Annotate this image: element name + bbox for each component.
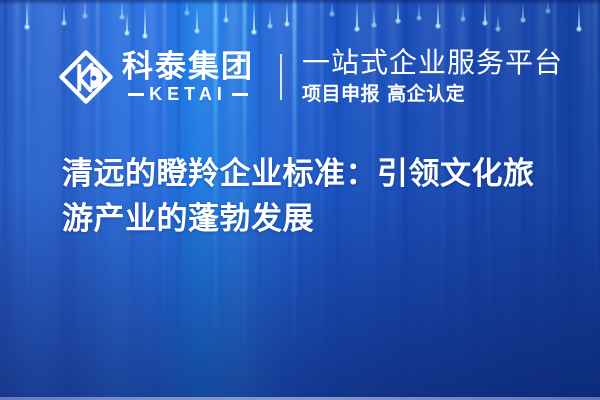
falling-particle <box>269 10 271 27</box>
logo-wordmark: 科泰集团 KETAI <box>122 51 254 104</box>
falling-particle <box>144 4 146 37</box>
light-streak <box>594 0 597 400</box>
falling-particle <box>286 0 288 25</box>
falling-particle <box>253 2 255 33</box>
page-title: 清远的瞪羚企业标准：引领文化旅游产业的蓬勃发展 <box>62 152 562 242</box>
light-streak <box>14 0 20 400</box>
falling-particle <box>63 2 65 24</box>
light-streak <box>583 0 593 400</box>
falling-particle <box>484 0 486 24</box>
falling-particle <box>522 2 524 21</box>
logo-chinese-name: 科泰集团 <box>122 51 254 84</box>
dash-right-icon <box>232 93 248 96</box>
falling-particle <box>397 0 399 22</box>
slogan-block: 一站式企业服务平台 项目申报 高企认定 <box>302 48 563 106</box>
falling-particle <box>547 0 549 12</box>
falling-particle <box>26 0 28 28</box>
slogan-sub: 项目申报 高企认定 <box>302 84 563 106</box>
top-shade <box>0 0 600 5</box>
falling-particle <box>331 2 333 15</box>
falling-particle <box>196 6 198 32</box>
header-divider <box>280 54 282 100</box>
falling-particle <box>462 6 464 20</box>
falling-particle <box>373 8 375 26</box>
slogan-main: 一站式企业服务平台 <box>302 48 563 79</box>
promo-banner: 科泰集团 KETAI 一站式企业服务平台 项目申报 高企认定 清远的瞪羚企业标准… <box>0 0 600 400</box>
falling-particle <box>437 0 439 27</box>
ketai-logo-icon <box>58 49 114 105</box>
logo-english-name: KETAI <box>122 85 254 103</box>
dash-left-icon <box>128 93 144 96</box>
falling-particle <box>121 0 123 18</box>
falling-particle <box>497 14 499 30</box>
falling-particle <box>126 12 128 34</box>
light-streak <box>27 0 30 400</box>
falling-particle <box>225 0 227 21</box>
falling-particle <box>186 0 188 14</box>
falling-particle <box>418 4 420 19</box>
falling-particle <box>84 0 86 17</box>
light-streak <box>4 0 7 400</box>
brand-header: 科泰集团 KETAI 一站式企业服务平台 项目申报 高企认定 <box>58 42 563 112</box>
logo-english-text: KETAI <box>149 85 227 103</box>
falling-particle <box>578 4 580 30</box>
falling-particle <box>356 0 358 30</box>
light-streak <box>568 0 571 400</box>
